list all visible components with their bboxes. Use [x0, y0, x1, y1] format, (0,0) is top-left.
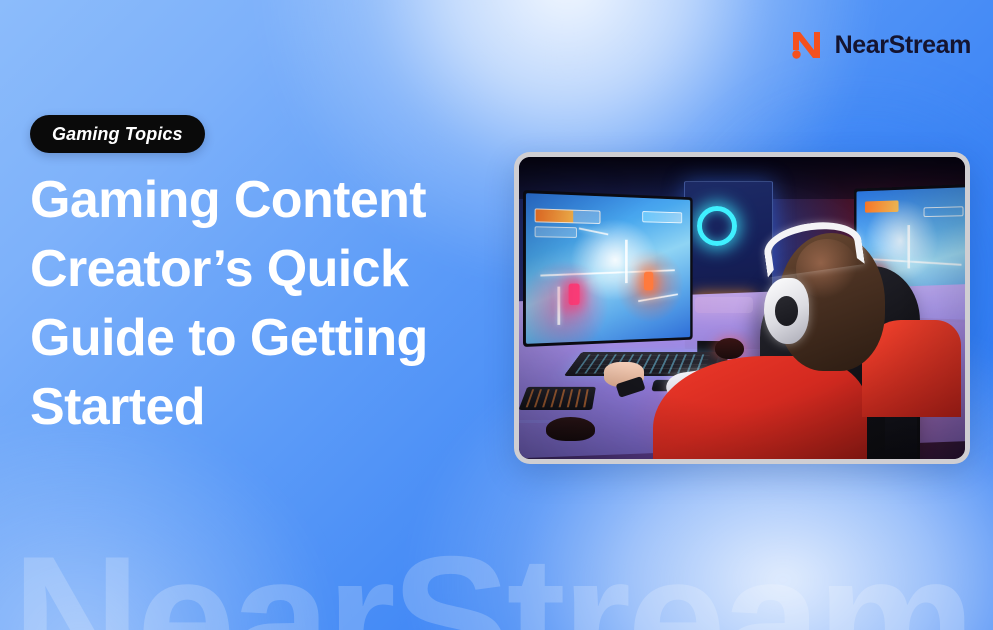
hud-health-bar-icon [535, 209, 600, 224]
neon-glow-dot [569, 283, 580, 305]
page-title: Gaming Content Creator’s Quick Guide to … [30, 166, 500, 443]
neon-line [638, 293, 678, 302]
gaming-mouse [715, 338, 744, 359]
neon-glow-dot [644, 272, 653, 291]
gaming-mouse-secondary [546, 417, 595, 441]
primary-monitor [523, 190, 692, 347]
nearstream-n-mark-icon [789, 28, 823, 62]
hero-image [514, 152, 970, 464]
background-glow-bottom-left [0, 410, 340, 630]
primary-monitor-screen [526, 193, 690, 344]
category-badge-label: Gaming Topics [52, 124, 183, 145]
neon-line [625, 240, 628, 283]
neon-line [579, 228, 609, 236]
rgb-fan-ring-icon [697, 206, 737, 246]
category-badge[interactable]: Gaming Topics [30, 115, 205, 153]
brand-logo[interactable]: NearStream [789, 28, 971, 62]
hud-panel-icon [923, 206, 963, 217]
hud-bar-icon [865, 200, 898, 212]
neon-line [907, 225, 910, 269]
neon-line [863, 258, 961, 266]
brand-wordmark: NearStream [835, 31, 971, 60]
neon-line [541, 269, 676, 276]
rgb-keypad [519, 387, 597, 410]
neon-line [558, 286, 561, 325]
article-hero-banner: NearStream NearStream Gaming Topics Gami… [0, 0, 993, 630]
hud-minimap-icon [643, 211, 683, 223]
hero-image-content [519, 157, 965, 459]
headphones-earcup-icon [764, 278, 809, 344]
hud-secondary-bar-icon [535, 227, 577, 238]
